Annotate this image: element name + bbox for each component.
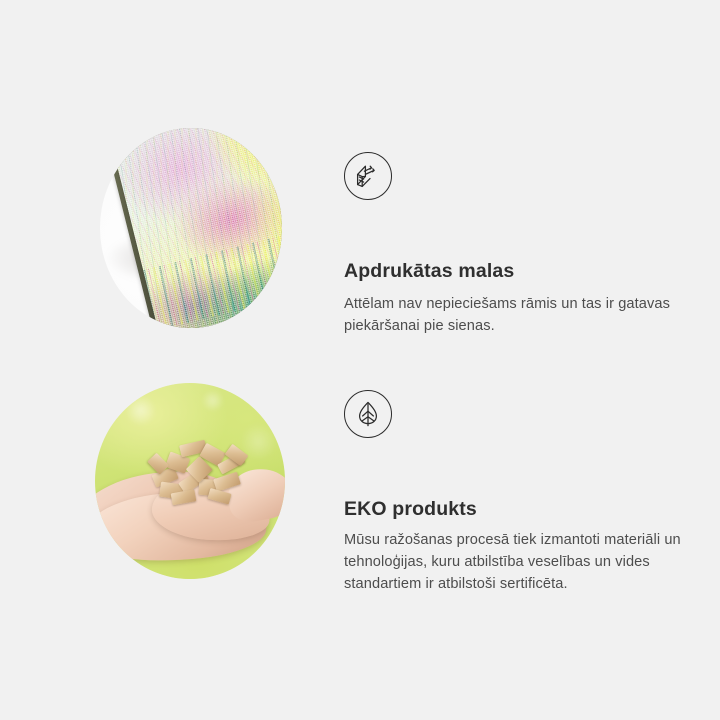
wood-chips-pile (144, 434, 259, 516)
printed-edges-text-block: Apdrukātas malas Attēlam nav nepieciešam… (344, 152, 694, 338)
eco-photo-background (95, 383, 285, 579)
leaf-glyph (353, 399, 383, 429)
canvas-photo-background (100, 128, 282, 328)
eco-product-title: EKO produkts (344, 498, 694, 521)
leaf-icon (344, 390, 392, 438)
canvas-print-object (104, 128, 282, 328)
printed-edges-icon (344, 152, 392, 200)
feature-panel: Apdrukātas malas Attēlam nav nepieciešam… (0, 0, 720, 720)
canvas-print-corner-photo (100, 128, 282, 328)
eco-product-text-block: EKO produkts Mūsu ražošanas procesā tiek… (344, 390, 694, 596)
printed-edges-description: Attēlam nav nepieciešams rāmis un tas ir… (344, 294, 694, 338)
eco-product-description: Mūsu ražošanas procesā tiek izmantoti ma… (344, 530, 694, 596)
printed-edges-glyph (353, 161, 383, 191)
hands-holding-wood-chips-photo (95, 383, 285, 579)
printed-edges-title: Apdrukātas malas (344, 260, 694, 283)
